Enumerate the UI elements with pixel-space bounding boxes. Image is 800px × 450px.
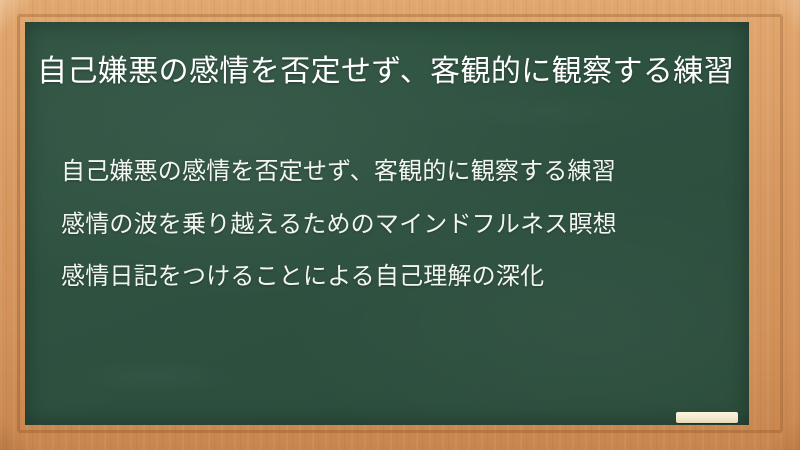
topic-list: 自己嫌悪の感情を否定せず、客観的に観察する練習 感情の波を乗り越えるためのマイン… bbox=[61, 154, 745, 294]
list-item: 自己嫌悪の感情を否定せず、客観的に観察する練習 bbox=[61, 154, 745, 189]
chalk-stick bbox=[676, 412, 738, 423]
chalkboard-slide: 自己嫌悪の感情を否定せず、客観的に観察する練習 自己嫌悪の感情を否定せず、客観的… bbox=[0, 0, 800, 450]
slide-title: 自己嫌悪の感情を否定せず、客観的に観察する練習 bbox=[37, 52, 739, 91]
list-item: 感情の波を乗り越えるためのマインドフルネス瞑想 bbox=[61, 207, 745, 242]
list-item: 感情日記をつけることによる自己理解の深化 bbox=[61, 259, 745, 294]
chalkboard-surface: 自己嫌悪の感情を否定せず、客観的に観察する練習 自己嫌悪の感情を否定せず、客観的… bbox=[25, 22, 749, 425]
